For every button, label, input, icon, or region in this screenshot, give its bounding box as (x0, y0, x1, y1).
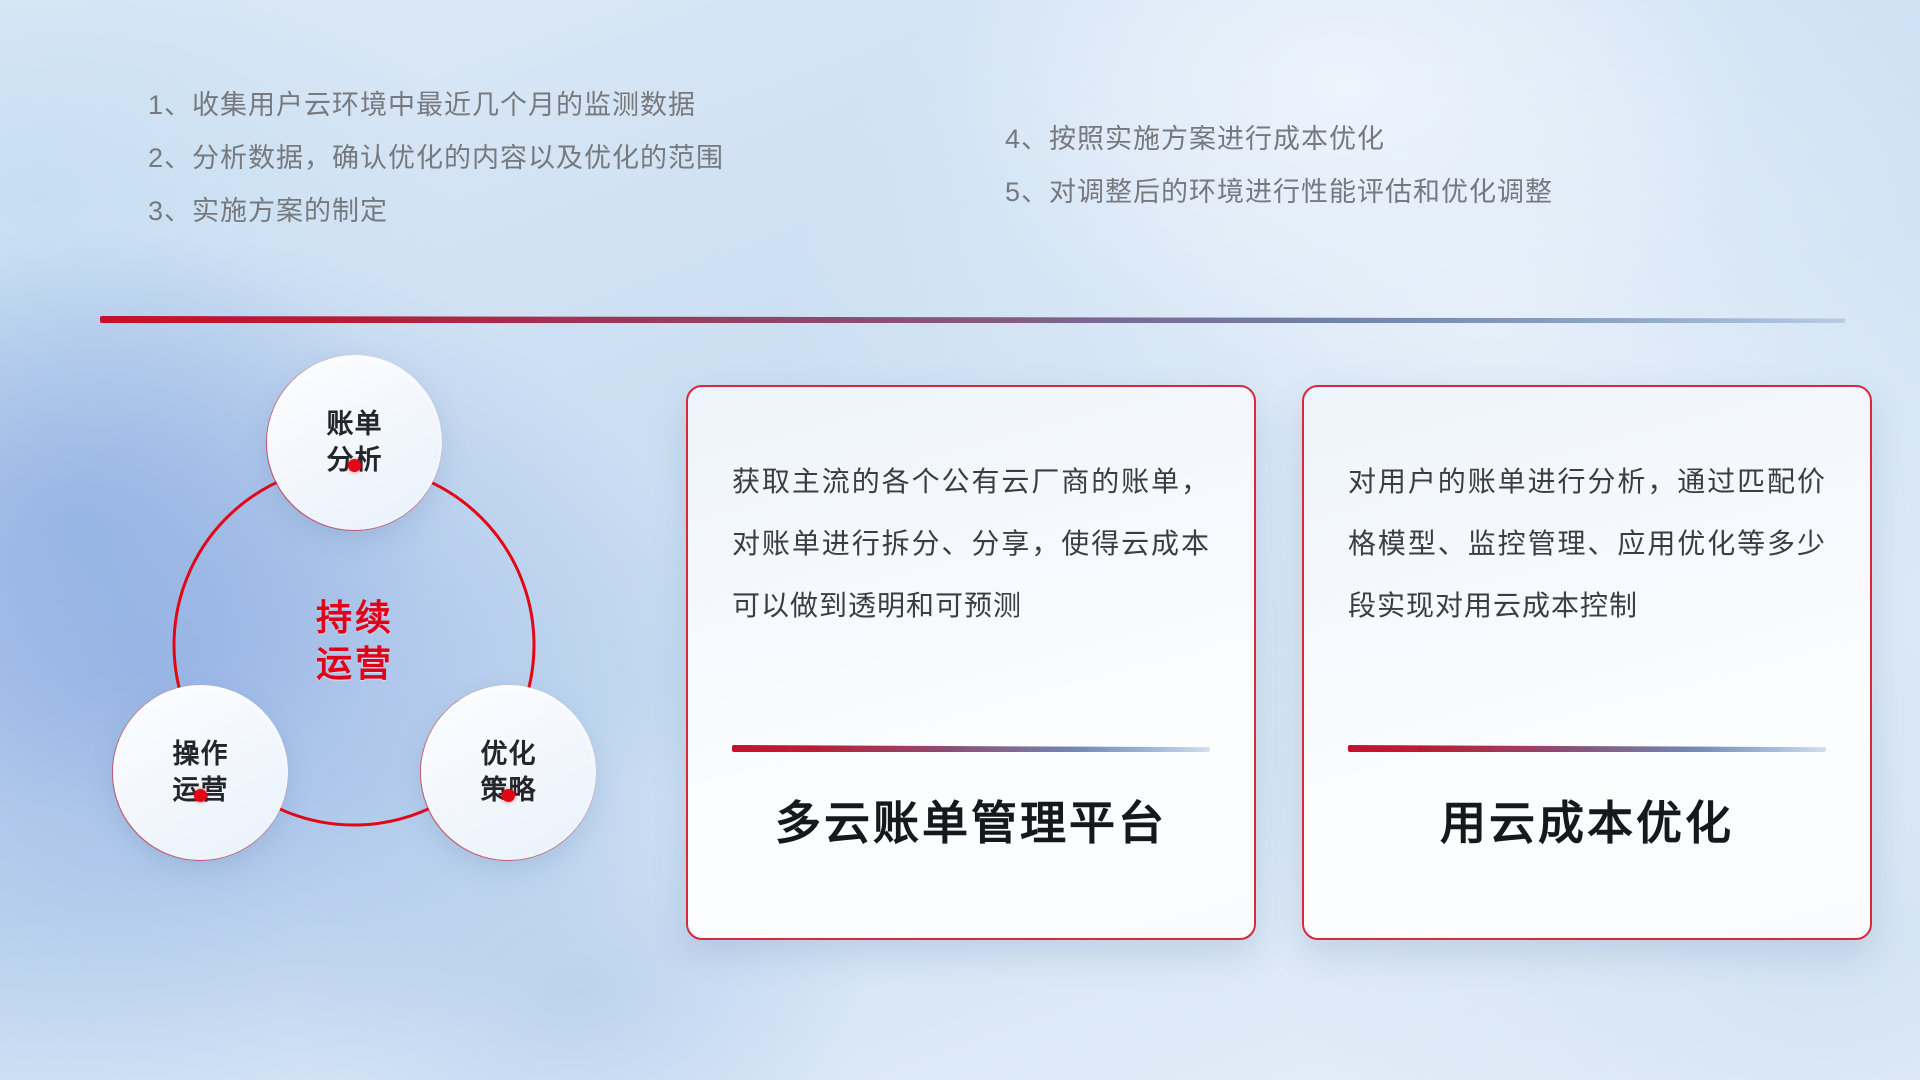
step-item: 3、实施方案的制定 (148, 198, 724, 225)
card-body-text: 获取主流的各个公有云厂商的账单，对账单进行拆分、分享，使得云成本可以做到透明和可… (732, 451, 1210, 637)
card-title: 用云成本优化 (1304, 787, 1870, 853)
bubble-label-line1: 优化 (481, 737, 537, 773)
center-label-line1: 持续 (95, 595, 615, 641)
card-title: 多云账单管理平台 (688, 787, 1254, 853)
steps-section: 1、收集用户云环境中最近几个月的监测数据 2、分析数据，确认优化的内容以及优化的… (0, 92, 1920, 252)
bubble-label-line1: 账单 (327, 407, 383, 443)
steps-left-column: 1、收集用户云环境中最近几个月的监测数据 2、分析数据，确认优化的内容以及优化的… (148, 92, 724, 251)
center-label-line2: 运营 (95, 641, 615, 687)
step-item: 2、分析数据，确认优化的内容以及优化的范围 (148, 145, 724, 172)
connector-dot-bottom-left (194, 789, 207, 802)
card-cloud-cost-optimization[interactable]: 对用户的账单进行分析，通过匹配价格模型、监控管理、应用优化等多少段实现对用云成本… (1302, 385, 1872, 940)
card-body-text: 对用户的账单进行分析，通过匹配价格模型、监控管理、应用优化等多少段实现对用云成本… (1348, 451, 1826, 637)
diagram-center-label: 持续 运营 (95, 595, 615, 687)
step-item: 4、按照实施方案进行成本优化 (1005, 126, 1553, 153)
step-item: 1、收集用户云环境中最近几个月的监测数据 (148, 92, 724, 119)
card-accent-rule (732, 745, 1210, 752)
bubble-label-line1: 操作 (173, 737, 229, 773)
connector-dot-top (348, 459, 361, 472)
bubble-operations[interactable]: 操作 运营 (113, 685, 288, 860)
bubble-optimization-strategy[interactable]: 优化 策略 (421, 685, 596, 860)
card-multicloud-billing[interactable]: 获取主流的各个公有云厂商的账单，对账单进行拆分、分享，使得云成本可以做到透明和可… (686, 385, 1256, 940)
steps-right-column: 4、按照实施方案进行成本优化 5、对调整后的环境进行性能评估和优化调整 (1005, 126, 1553, 232)
card-accent-rule (1348, 745, 1826, 752)
step-item: 5、对调整后的环境进行性能评估和优化调整 (1005, 179, 1553, 206)
bubble-bill-analysis[interactable]: 账单 分析 (267, 355, 442, 530)
section-divider (100, 316, 1845, 323)
connector-dot-bottom-right (502, 789, 515, 802)
continuous-operation-diagram: 账单 分析 操作 运营 优化 策略 持续 运营 (95, 355, 615, 935)
